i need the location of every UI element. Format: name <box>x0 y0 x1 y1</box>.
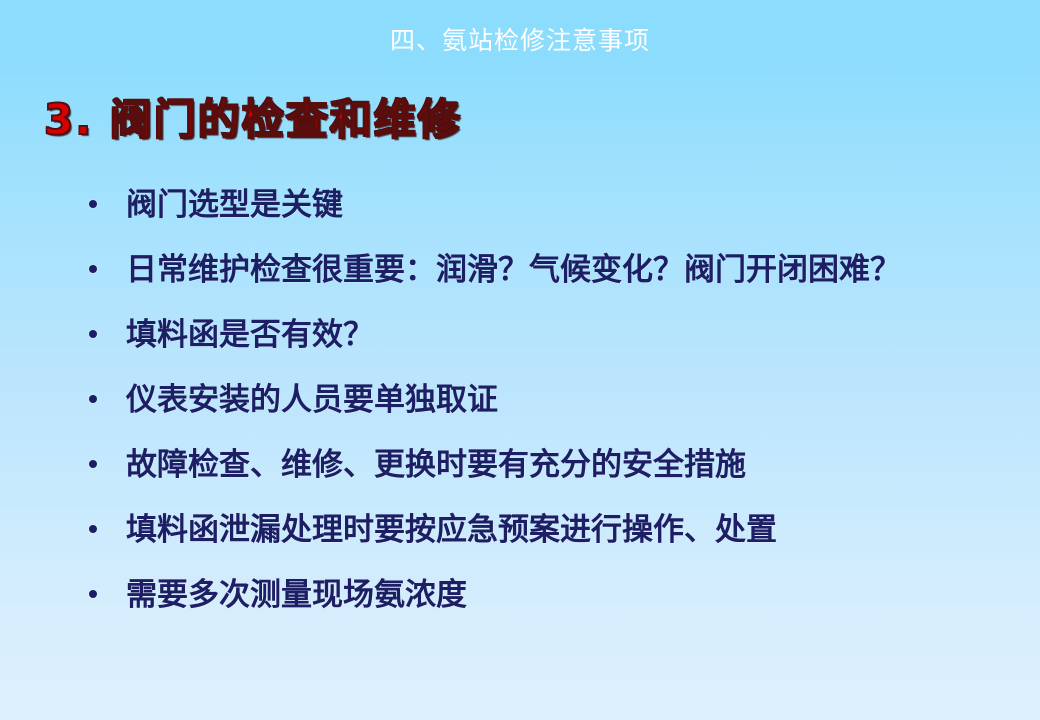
list-item-label: 需要多次测量现场氨浓度 <box>126 574 986 616</box>
list-item-label: 阀门选型是关键 <box>126 184 986 226</box>
list-item: 填料函泄漏处理时要按应急预案进行操作、处置 <box>86 509 986 574</box>
section-heading-text: 3. 阀门的检查和维修 <box>44 92 462 148</box>
bullet-dot-icon <box>86 314 126 356</box>
list-item-label: 填料函是否有效？ <box>126 314 986 356</box>
list-item-label: 填料函泄漏处理时要按应急预案进行操作、处置 <box>126 509 986 551</box>
list-item: 故障检查、维修、更换时要有充分的安全措施 <box>86 444 986 509</box>
bullet-dot-icon <box>86 444 126 486</box>
bullet-dot-icon <box>86 379 126 421</box>
bullet-dot-icon <box>86 249 126 291</box>
list-item: 需要多次测量现场氨浓度 <box>86 574 986 639</box>
bullet-dot-icon <box>86 184 126 226</box>
list-item-label: 仪表安装的人员要单独取证 <box>126 379 986 421</box>
page-title: 四、氨站检修注意事项 <box>390 26 650 56</box>
slide-header: 四、氨站检修注意事项 <box>0 26 1040 56</box>
list-item-label: 故障检查、维修、更换时要有充分的安全措施 <box>126 444 986 486</box>
list-item: 填料函是否有效？ <box>86 314 986 379</box>
bullet-dot-icon <box>86 509 126 551</box>
list-item: 阀门选型是关键 <box>86 184 986 249</box>
list-item: 仪表安装的人员要单独取证 <box>86 379 986 444</box>
bullet-dot-icon <box>86 574 126 616</box>
bullet-list: 阀门选型是关键 日常维护检查很重要：润滑？气候变化？阀门开闭困难？ 填料函是否有… <box>86 184 986 639</box>
slide-canvas: 四、氨站检修注意事项 3. 阀门的检查和维修 阀门选型是关键 日常维护检查很重要… <box>0 0 1040 720</box>
list-item-label: 日常维护检查很重要：润滑？气候变化？阀门开闭困难？ <box>126 249 986 291</box>
list-item: 日常维护检查很重要：润滑？气候变化？阀门开闭困难？ <box>86 249 986 314</box>
section-heading: 3. 阀门的检查和维修 <box>44 92 564 152</box>
